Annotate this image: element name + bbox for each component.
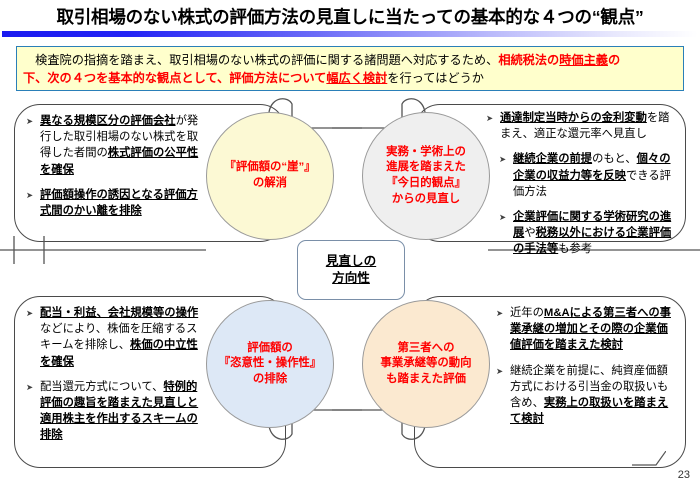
circle-bl-line-1: 評価額の bbox=[219, 341, 322, 357]
bullet-text-segment: 配当還元方式について、 bbox=[40, 381, 163, 393]
bullet-text-segment: や bbox=[524, 227, 535, 239]
circle-br-line-2: 事業承継等の動向 bbox=[380, 356, 471, 372]
bullet-item: 継続企業を前提に、純資産価額方式における引当金の取扱いも含め、実務上の取扱いを踏… bbox=[496, 363, 678, 428]
bullet-text-segment: 近年の bbox=[510, 307, 544, 319]
quadrant-text-top-right: 通達制定当時からの金利変動を踏まえ、適正な還元率へ見直し継続企業の前提のもと、個… bbox=[486, 110, 676, 258]
bullet-item: 配当・利益、会社規模等の操作などにより、株価を圧縮するスキームを排除し、株価の中… bbox=[26, 305, 208, 370]
quadrant-text-top-left: 異なる規模区分の評価会社が発行した取引相場のない株式を取得した者間の株式評価の公… bbox=[26, 113, 206, 219]
quadrant-text-bottom-right: 近年のM&Aによる第三者への事業承継の増加とその際の企業価値評価を踏まえた検討継… bbox=[496, 305, 678, 427]
bullet-text-segment: 継続企業の前提 bbox=[513, 153, 592, 165]
circle-tr-line-1: 実務・学術上の bbox=[386, 145, 466, 161]
circle-tl-line-1: 『評価額の“崖”』 bbox=[224, 160, 315, 176]
circle-tl-line-2: の解消 bbox=[224, 176, 315, 192]
bullet-item: 企業評価に関する学術研究の進展や税務以外における企業評価の手法等も参考 bbox=[499, 209, 676, 258]
center-direction-box: 見直しの 方向性 bbox=[297, 240, 405, 300]
circle-br-line-1: 第三者への bbox=[380, 341, 471, 357]
circle-bl-line-2: 『恣意性・操作性』 bbox=[219, 356, 322, 372]
bullet-text-segment: 配当・利益、会社規模等の操作 bbox=[40, 307, 198, 319]
bullet-item: 評価額操作の誘因となる評価方式間のかい離を排除 bbox=[26, 187, 206, 219]
bullet-item: 通達制定当時からの金利変動を踏まえ、適正な還元率へ見直し bbox=[486, 110, 676, 142]
quadrant-text-bottom-left: 配当・利益、会社規模等の操作などにより、株価を圧縮するスキームを排除し、株価の中… bbox=[26, 305, 208, 444]
bullet-item: 近年のM&Aによる第三者への事業承継の増加とその際の企業価値評価を踏まえた検討 bbox=[496, 305, 678, 354]
circle-tr-line-4: からの見直し bbox=[386, 192, 466, 208]
circle-modern-viewpoint: 実務・学術上の 進展を踏まえた 『今日的観点』 からの見直し bbox=[362, 112, 490, 240]
slide-canvas: 取引相場のない株式の評価方法の見直しに当たっての基本的な４つの“観点” 検査院の… bbox=[0, 0, 700, 485]
center-line-2: 方向性 bbox=[326, 270, 376, 287]
circle-evaluation-cliff: 『評価額の“崖”』 の解消 bbox=[206, 112, 334, 240]
bullet-text-segment: 通達制定当時からの金利変動 bbox=[500, 112, 647, 124]
circle-third-party-succession: 第三者への 事業承継等の動向 も踏まえた評価 bbox=[362, 300, 490, 428]
bullet-item: 異なる規模区分の評価会社が発行した取引相場のない株式を取得した者間の株式評価の公… bbox=[26, 113, 206, 178]
bullet-text-segment: 異なる規模区分の評価会社 bbox=[40, 115, 176, 127]
circle-bl-line-3: の排除 bbox=[219, 372, 322, 388]
bullet-text-segment: 評価額操作の誘因となる評価方式間のかい離を排除 bbox=[40, 189, 198, 217]
circle-tr-line-3: 『今日的観点』 bbox=[386, 176, 466, 192]
bullet-item: 配当還元方式について、特例的評価の趣旨を踏まえた見直しと適用株主を作出するスキー… bbox=[26, 379, 208, 444]
circle-tr-line-2: 進展を踏まえた bbox=[386, 160, 466, 176]
center-line-1: 見直しの bbox=[326, 253, 376, 270]
bullet-text-segment: のもと、 bbox=[592, 153, 637, 165]
bullet-item: 継続企業の前提のもと、個々の企業の収益力等を反映できる評価方法 bbox=[499, 151, 676, 200]
circle-br-line-3: も踏まえた評価 bbox=[380, 372, 471, 388]
circle-arbitrariness-exclusion: 評価額の 『恣意性・操作性』 の排除 bbox=[206, 300, 334, 428]
bullet-text-segment: も参考 bbox=[558, 243, 592, 255]
